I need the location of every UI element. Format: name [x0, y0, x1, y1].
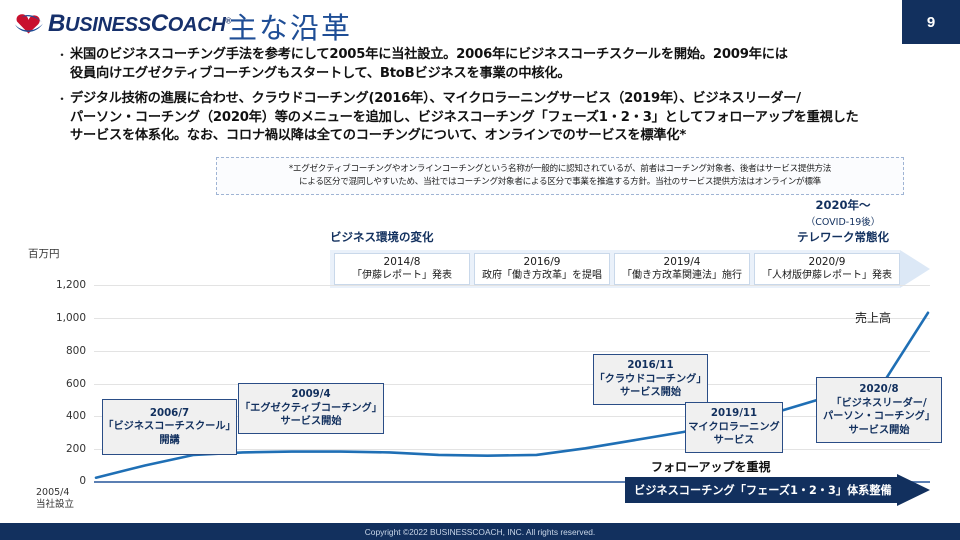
callout-line: サービス開始: [280, 415, 341, 429]
chart-gridline: [94, 351, 930, 352]
footer-bar: Copyright ©2022 BUSINESSCOACH, INC. All …: [0, 523, 960, 540]
callout-box[interactable]: 2016/11 「クラウドコーチング」 サービス開始: [593, 354, 708, 405]
chart-unit-label: 百万円: [28, 246, 60, 261]
phase-arrow-banner: ビジネスコーチング「フェーズ1・2・3」体系整備: [625, 477, 930, 503]
bullet-line: 役員向けエグゼクティブコーチングもスタートして、BtoBビジネスを事業の中核化。: [70, 65, 788, 84]
covid-line-1: 2020年〜: [768, 197, 918, 213]
footnote-line: による区分で混同しやすいため、当社ではコーチング対象者による区分で事業を推進する…: [225, 176, 895, 189]
timeline-heading: ビジネス環境の変化: [330, 229, 434, 245]
phase-arrow-text: ビジネスコーチング「フェーズ1・2・3」体系整備: [625, 482, 892, 498]
callout-line: 2006/7: [150, 407, 189, 421]
logo-b: B: [48, 10, 65, 37]
callout-line: 「エグゼクティブコーチング」: [240, 402, 382, 416]
chart-ytick: 400: [28, 410, 86, 422]
callout-box[interactable]: 2020/8 「ビジネスリーダー/ パーソン・コーチング」 サービス開始: [816, 377, 942, 443]
bullet-line: パーソン・コーチング（2020年）等のメニューを追加し、ビジネスコーチング「フェ…: [70, 109, 859, 128]
bullet-line: デジタル技術の進展に合わせ、クラウドコーチング(2016年）、マイクロラーニング…: [70, 90, 859, 109]
covid-line-3: テレワーク常態化: [768, 229, 918, 245]
chart-ytick: 1,000: [28, 312, 86, 324]
timeline-cell-desc: 「伊藤レポート」発表: [352, 269, 452, 282]
callout-box[interactable]: 2009/4 「エグゼクティブコーチング」 サービス開始: [238, 383, 384, 434]
chart-ytick: 1,200: [28, 279, 86, 291]
chart-ytick: 0: [28, 475, 86, 487]
callout-line: 「クラウドコーチング」: [594, 373, 706, 387]
phase-arrow-head-icon: [897, 474, 930, 506]
callout-line: 2016/11: [627, 359, 673, 373]
callout-line: マイクロラーニング: [688, 421, 779, 435]
timeline-cell[interactable]: 2016/9 政府「働き方改革」を提唱: [474, 253, 610, 285]
covid-line-2: （COVID-19後）: [768, 214, 918, 228]
chart-ytick: 600: [28, 378, 86, 390]
callout-line: 2009/4: [291, 388, 330, 402]
bullet-line: サービスを体系化。なお、コロナ禍以降は全てのコーチングについて、オンラインでのサ…: [70, 127, 859, 146]
heart-swoosh-icon: [14, 11, 44, 37]
callout-line: 開講: [159, 434, 179, 448]
footnote-box: *エグゼクティブコーチングやオンラインコーチングという名称が一般的に認知されてい…: [216, 157, 904, 195]
bullet-item: ・ 米国のビジネスコーチング手法を参考にして2005年に当社設立。2006年にビ…: [56, 46, 946, 83]
callout-line: パーソン・コーチング」: [823, 410, 935, 424]
timeline-cell[interactable]: 2020/9 「人材版伊藤レポート」発表: [754, 253, 900, 285]
callout-line: サービス開始: [620, 386, 681, 400]
callout-line: 「ビジネスリーダー/: [831, 397, 926, 411]
footnote-line: *エグゼクティブコーチングやオンラインコーチングという名称が一般的に認知されてい…: [225, 163, 895, 176]
callout-line: 2020/8: [859, 383, 898, 397]
timeline-cell-desc: 政府「働き方改革」を提唱: [482, 269, 602, 282]
chart-xstart-label: 2005/4 当社設立: [36, 487, 74, 511]
logo-wordmark: BUSINESSCOACH®: [48, 10, 231, 38]
bullet-list: ・ 米国のビジネスコーチング手法を参考にして2005年に当社設立。2006年にビ…: [56, 46, 946, 153]
phase-arrow-body: ビジネスコーチング「フェーズ1・2・3」体系整備: [625, 477, 897, 503]
timeline-cell-year: 2014/8: [384, 256, 421, 269]
bullet-text: デジタル技術の進展に合わせ、クラウドコーチング(2016年）、マイクロラーニング…: [70, 90, 859, 146]
bullet-text: 米国のビジネスコーチング手法を参考にして2005年に当社設立。2006年にビジネ…: [70, 46, 788, 83]
chart-gridline: [94, 384, 930, 385]
callout-line: サービス: [714, 434, 755, 448]
logo-c: C: [151, 10, 168, 37]
chart-xstart-line-2: 当社設立: [36, 499, 74, 511]
bullet-marker-icon: ・: [56, 90, 70, 146]
bullet-item: ・ デジタル技術の進展に合わせ、クラウドコーチング(2016年）、マイクロラーニ…: [56, 90, 946, 146]
callout-line: 「ビジネスコーチスクール」: [103, 420, 235, 434]
slide-root: BUSINESSCOACH® 主な沿革 9 ・ 米国のビジネスコーチング手法を参…: [0, 0, 960, 540]
callout-box[interactable]: 2006/7 「ビジネスコーチスクール」 開講: [102, 399, 237, 455]
footer-copyright: Copyright ©2022 BUSINESSCOACH, INC. All …: [365, 527, 596, 537]
page-number-badge: 9: [902, 0, 960, 44]
timeline-band: 2014/8 「伊藤レポート」発表 2016/9 政府「働き方改革」を提唱 20…: [330, 250, 930, 288]
chart-ytick: 800: [28, 345, 86, 357]
timeline-arrow-head-icon: [900, 250, 930, 288]
chart-series-legend: 売上高: [855, 309, 891, 326]
chart-gridline: [94, 318, 930, 319]
logo-oach: OACH: [168, 14, 226, 36]
covid-annotation: 2020年〜 （COVID-19後） テレワーク常態化: [768, 197, 918, 245]
timeline-cell[interactable]: 2014/8 「伊藤レポート」発表: [334, 253, 470, 285]
timeline-cell-year: 2019/4: [664, 256, 701, 269]
timeline-cell-year: 2016/9: [524, 256, 561, 269]
timeline-cell-desc: 「人材版伊藤レポート」発表: [762, 269, 892, 282]
chart-ytick: 200: [28, 443, 86, 455]
chart-xstart-line-1: 2005/4: [36, 487, 74, 499]
followup-label: フォローアップを重視: [651, 458, 771, 475]
logo-usiness: USINESS: [65, 14, 151, 36]
callout-box[interactable]: 2019/11 マイクロラーニング サービス: [685, 402, 783, 453]
callout-line: サービス開始: [848, 424, 909, 438]
timeline-cell[interactable]: 2019/4 「働き方改革関連法」施行: [614, 253, 750, 285]
timeline-cell-year: 2020/9: [809, 256, 846, 269]
bullet-marker-icon: ・: [56, 46, 70, 83]
chart-gridline: [94, 285, 930, 286]
page-title: 主な沿革: [228, 5, 352, 47]
company-logo: BUSINESSCOACH®: [14, 8, 231, 40]
bullet-line: 米国のビジネスコーチング手法を参考にして2005年に当社設立。2006年にビジネ…: [70, 46, 788, 65]
timeline-cell-desc: 「働き方改革関連法」施行: [622, 269, 742, 282]
callout-line: 2019/11: [711, 407, 757, 421]
